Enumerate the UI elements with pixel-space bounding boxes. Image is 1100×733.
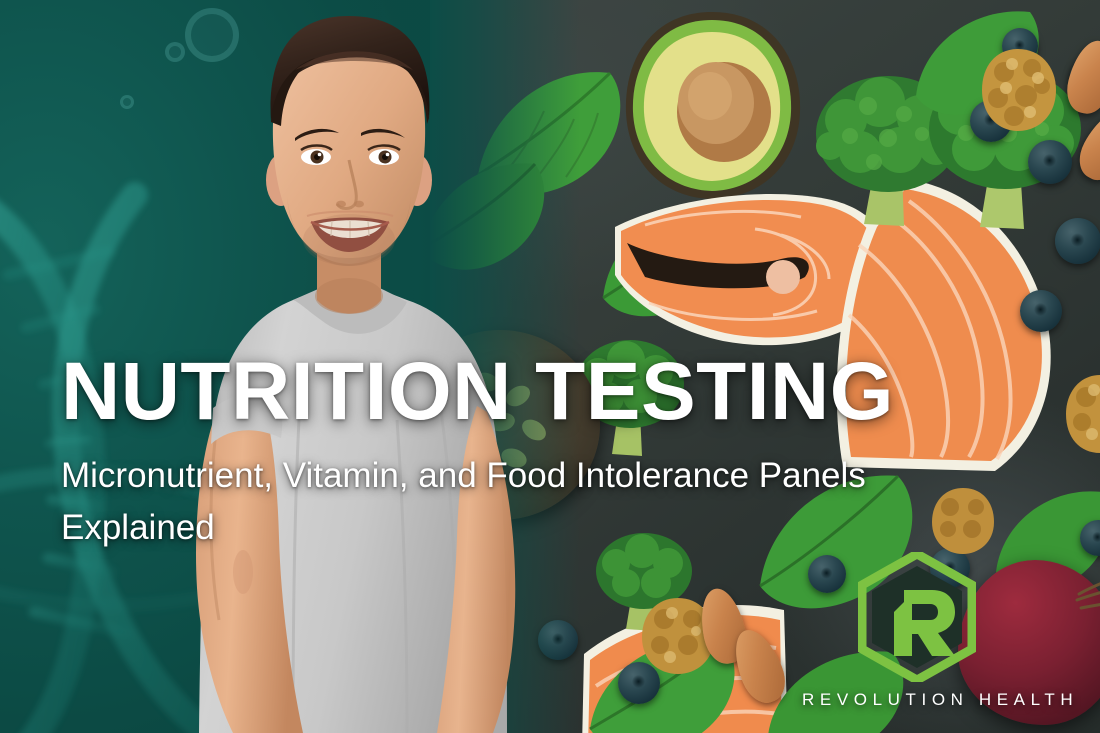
walnut (1062, 372, 1100, 456)
hexagon-r-icon (858, 552, 976, 682)
walnut (978, 46, 1060, 134)
beet-root (1075, 570, 1100, 630)
page-title: NUTRITION TESTING (61, 352, 1061, 432)
nutrition-testing-banner: NUTRITION TESTING Micronutrient, Vitamin… (0, 0, 1100, 733)
page-subtitle: Micronutrient, Vitamin, and Food Intoler… (61, 450, 961, 554)
bokeh-circle-icon (120, 95, 134, 109)
brand-name: REVOLUTION HEALTH (797, 690, 1037, 710)
blueberry (1055, 218, 1100, 264)
avocado-half (620, 8, 805, 203)
blueberry (1028, 140, 1072, 184)
brand-logo[interactable]: REVOLUTION HEALTH (797, 552, 1037, 710)
blueberry (1020, 290, 1062, 332)
banner-text-block: NUTRITION TESTING Micronutrient, Vitamin… (61, 352, 1061, 554)
hexagon-logo-mark[interactable] (858, 552, 976, 682)
